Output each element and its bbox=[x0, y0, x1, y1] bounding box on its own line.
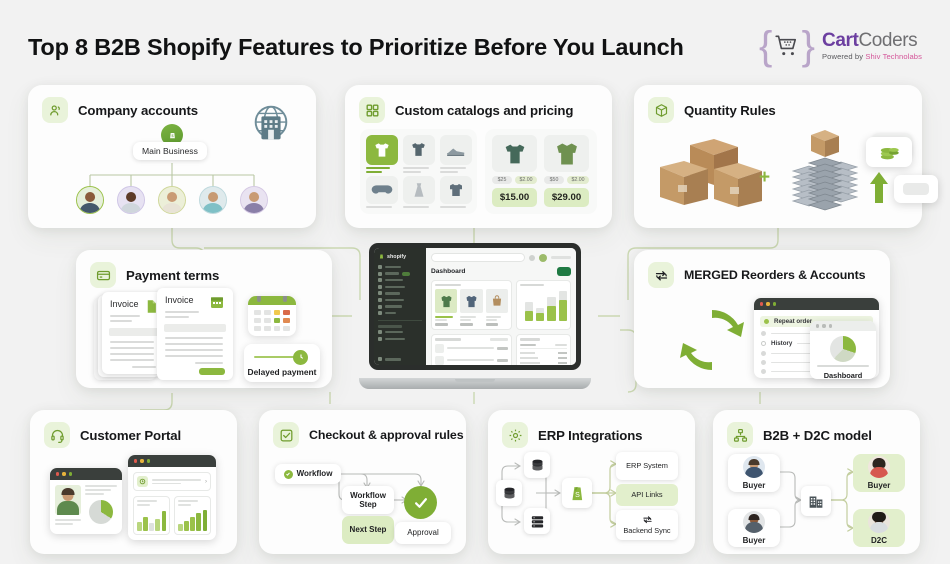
node-label: Next Step bbox=[350, 525, 387, 534]
featured-product[interactable] bbox=[544, 135, 589, 172]
dashboard-title: Dashboard bbox=[431, 268, 465, 275]
clock-icon bbox=[137, 476, 148, 487]
avatar[interactable] bbox=[539, 254, 547, 262]
card-header: MERGED Reorders & Accounts bbox=[634, 250, 890, 288]
product-cell[interactable] bbox=[403, 176, 435, 204]
node-label: D2C bbox=[871, 536, 887, 545]
sidebar-item[interactable] bbox=[378, 291, 422, 295]
sidebar-item[interactable] bbox=[378, 298, 422, 302]
card-custom-catalogs[interactable]: Custom catalogs and pricing bbox=[345, 85, 612, 228]
old-price: $25 bbox=[492, 176, 512, 184]
sidebar-item-settings[interactable] bbox=[378, 357, 401, 361]
catalog-grid-panel[interactable] bbox=[360, 129, 477, 214]
sidebar-item[interactable] bbox=[378, 337, 422, 341]
delayed-payment-label: Delayed payment bbox=[248, 367, 317, 377]
pie-chart bbox=[89, 500, 113, 524]
sidebar-item[interactable] bbox=[378, 305, 422, 309]
avatar bbox=[55, 485, 81, 515]
card-erp-integrations[interactable]: ERP Integrations bbox=[488, 410, 695, 554]
sidebar-section bbox=[378, 325, 422, 327]
svg-text:$: $ bbox=[171, 133, 173, 137]
logo-tagline-brand: Shiv Technolabs bbox=[865, 52, 922, 61]
bell-icon[interactable] bbox=[529, 255, 535, 261]
infographic-canvas: Top 8 B2B Shopify Features to Prioritize… bbox=[0, 0, 950, 564]
search-input[interactable] bbox=[431, 253, 525, 262]
card-header: Payment terms bbox=[76, 250, 332, 288]
profile-window[interactable] bbox=[50, 468, 122, 534]
next-step-node[interactable]: Next Step bbox=[342, 516, 394, 544]
brand-logo: { } CartCoders Powered by bbox=[759, 24, 922, 68]
featured-product[interactable] bbox=[492, 135, 537, 172]
sidebar-item[interactable] bbox=[378, 311, 422, 315]
card-b2b-d2c[interactable]: B2B + D2C model bbox=[713, 410, 920, 554]
card-title: Quantity Rules bbox=[684, 103, 776, 118]
dashboard-action-button[interactable] bbox=[557, 267, 571, 276]
coins-card[interactable] bbox=[866, 137, 912, 167]
card-company-accounts[interactable]: Company accounts bbox=[28, 85, 316, 228]
window-titlebar bbox=[50, 468, 122, 480]
backend-sync-label[interactable]: Backend Sync bbox=[616, 510, 678, 540]
price-tag: $15.00 bbox=[492, 188, 537, 207]
api-links-label[interactable]: API Links bbox=[616, 484, 678, 506]
check-circle-icon bbox=[404, 486, 437, 519]
pricing-panel[interactable]: $25 $2.00 $50 $2.00 $15.00 $29.00 bbox=[485, 129, 597, 214]
sidebar-item[interactable] bbox=[378, 330, 422, 334]
window-titlebar bbox=[754, 298, 879, 310]
dashboard-topbar bbox=[431, 253, 571, 262]
node-label: Backend Sync bbox=[623, 527, 670, 536]
database-left-icon[interactable] bbox=[496, 480, 522, 506]
invoice-front[interactable]: Invoice bbox=[157, 288, 233, 380]
avatar[interactable] bbox=[158, 186, 186, 214]
blank-card bbox=[894, 175, 938, 203]
node-label: ERP System bbox=[626, 462, 668, 471]
cart-logo-icon: { } bbox=[759, 24, 815, 68]
brand-wordmark: CartCoders Powered by Shiv Technolabs bbox=[822, 31, 922, 61]
panel-product-catalogs bbox=[431, 334, 512, 365]
product-cell[interactable] bbox=[403, 135, 435, 165]
workflow-node[interactable]: Workflow bbox=[275, 464, 341, 484]
card-customer-portal[interactable]: Customer Portal › bbox=[30, 410, 237, 554]
delayed-payment-card[interactable]: Delayed payment bbox=[244, 344, 320, 382]
shipping-price: $2.00 bbox=[515, 176, 537, 184]
price-tag: $29.00 bbox=[544, 188, 589, 207]
main-business-node[interactable]: Main Business bbox=[133, 142, 207, 160]
panel-monthly-updates bbox=[516, 280, 571, 330]
database-top-icon[interactable] bbox=[524, 452, 550, 478]
server-bottom-icon[interactable] bbox=[524, 508, 550, 534]
old-price: $50 bbox=[544, 176, 564, 184]
credit-card-icon bbox=[90, 262, 116, 288]
row-label: History bbox=[771, 340, 792, 347]
avatar[interactable] bbox=[76, 186, 104, 214]
card-title: Payment terms bbox=[126, 268, 219, 283]
node-label: Buyer bbox=[743, 481, 766, 490]
shopify-logo: shopify bbox=[378, 253, 422, 260]
erp-system-label[interactable]: ERP System bbox=[616, 452, 678, 480]
boxes-stack-icon bbox=[652, 129, 767, 214]
d2c-node-right[interactable]: D2C bbox=[853, 509, 905, 547]
sidebar-item[interactable] bbox=[378, 285, 422, 289]
buyer-node-left-1[interactable]: Buyer bbox=[728, 454, 780, 492]
laptop-base bbox=[359, 378, 591, 389]
product-cell[interactable] bbox=[440, 135, 472, 165]
approval-node[interactable]: Approval bbox=[395, 522, 451, 544]
row-label: Repeat order bbox=[774, 318, 812, 325]
card-quantity-rules[interactable]: Quantity Rules + bbox=[634, 85, 922, 228]
bar-chart-left bbox=[133, 496, 170, 535]
card-header: Customer Portal bbox=[30, 410, 237, 448]
avatar[interactable] bbox=[199, 186, 227, 214]
window-titlebar bbox=[128, 455, 216, 467]
sidebar-item[interactable] bbox=[378, 278, 422, 282]
grid-icon bbox=[359, 97, 385, 123]
sync-arrows-icon bbox=[642, 514, 653, 525]
pie-chart-icon bbox=[830, 336, 856, 362]
headset-icon bbox=[44, 422, 70, 448]
card-checkout-rules[interactable]: Checkout & approval rules Workflow Work bbox=[259, 410, 466, 554]
laptop-dashboard[interactable]: shopify bbox=[359, 243, 591, 389]
card-title: MERGED Reorders & Accounts bbox=[684, 268, 865, 282]
sidebar-item[interactable] bbox=[378, 265, 422, 269]
calendar-icon bbox=[248, 296, 296, 336]
shipping-price: $2.00 bbox=[567, 176, 589, 184]
buyer-node-left-2[interactable]: Buyer bbox=[728, 509, 780, 547]
building-icon[interactable] bbox=[801, 486, 831, 516]
card-header: Custom catalogs and pricing bbox=[345, 85, 612, 123]
box-icon bbox=[648, 97, 674, 123]
node-label: Workflow bbox=[297, 469, 333, 478]
analytics-window[interactable]: › bbox=[128, 455, 216, 540]
panel-balance bbox=[516, 334, 571, 365]
dashboard-sidebar[interactable]: shopify bbox=[374, 248, 426, 365]
card-payment-terms[interactable]: Payment terms Invoice Invoice bbox=[76, 250, 332, 388]
logo-cart-text: Cart bbox=[822, 30, 858, 51]
node-label: Buyer bbox=[743, 536, 766, 545]
dashboard-brand: shopify bbox=[387, 254, 406, 260]
sync-icon bbox=[648, 262, 674, 288]
sidebar-item[interactable] bbox=[378, 272, 422, 276]
card-title: Custom catalogs and pricing bbox=[395, 103, 573, 118]
bar-chart-right bbox=[174, 496, 211, 535]
window-titlebar bbox=[810, 321, 876, 331]
invoice-label: Invoice bbox=[165, 295, 194, 305]
plus-symbol: + bbox=[759, 167, 770, 189]
header: Top 8 B2B Shopify Features to Prioritize… bbox=[28, 24, 922, 70]
chevron-right-icon[interactable]: › bbox=[205, 479, 207, 485]
card-title: Customer Portal bbox=[80, 428, 181, 443]
avatar bbox=[868, 511, 890, 533]
avatar[interactable] bbox=[117, 186, 145, 214]
product-cell[interactable] bbox=[366, 176, 398, 204]
webcam-notch bbox=[458, 243, 492, 248]
node-label: Workflow Step bbox=[342, 491, 394, 509]
dashboard-main: Dashboard bbox=[426, 248, 576, 365]
product-cell[interactable] bbox=[440, 176, 472, 204]
avatar[interactable] bbox=[240, 186, 268, 214]
node-label: Approval bbox=[407, 528, 439, 537]
card-header: Quantity Rules bbox=[634, 85, 922, 123]
overlay-label: Dashboard bbox=[817, 371, 869, 379]
card-merged-reorders[interactable]: MERGED Reorders & Accounts Repeat order bbox=[634, 250, 890, 388]
avatar bbox=[743, 511, 765, 533]
product-cell-selected[interactable] bbox=[366, 135, 398, 165]
dashboard-overlay-window[interactable]: Dashboard bbox=[810, 321, 876, 379]
node-label: Buyer bbox=[868, 481, 891, 490]
panel-product-summary bbox=[431, 280, 512, 330]
logo-coders-text: Coders bbox=[858, 30, 917, 51]
refresh-cycle-icon bbox=[674, 304, 750, 376]
node-label: API Links bbox=[631, 491, 662, 500]
pallet-stack-icon bbox=[779, 127, 874, 217]
buyer-node-right[interactable]: Buyer bbox=[853, 454, 905, 492]
up-arrow-icon bbox=[868, 171, 890, 205]
laptop-screen: shopify bbox=[369, 243, 581, 370]
avatar bbox=[868, 456, 890, 478]
clock-icon bbox=[293, 350, 308, 365]
workflow-step-node[interactable]: Workflow Step bbox=[342, 486, 394, 514]
svg-text:S: S bbox=[575, 492, 580, 499]
invoice-label: Invoice bbox=[110, 299, 139, 309]
logo-tagline-prefix: Powered by bbox=[822, 52, 865, 61]
avatar bbox=[743, 456, 765, 478]
shopify-bag-icon[interactable]: S bbox=[562, 478, 592, 508]
